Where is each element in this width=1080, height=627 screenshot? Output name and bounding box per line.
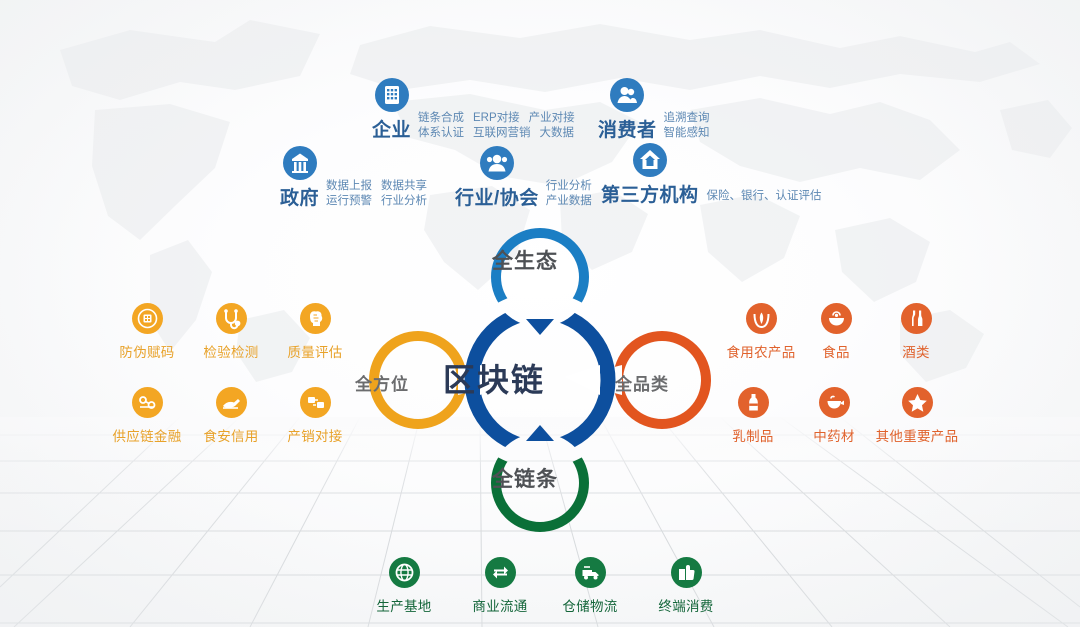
ring-label-ecosystem: 全生态 [492, 245, 558, 275]
tag: 链条合成 [418, 111, 464, 126]
tag: ERP对接 [473, 111, 520, 126]
food-safety-credit-icon [216, 387, 247, 418]
item-label: 其他重要产品 [865, 425, 969, 445]
item-label: 商业流通 [461, 595, 539, 615]
ring-label-chain: 全链条 [492, 463, 558, 493]
item-liquor[interactable]: 酒类 [877, 303, 955, 361]
circulation-arrows-icon [485, 557, 516, 588]
stakeholder-third-party[interactable]: 第三方机构 保险、银行、认证评估 [601, 143, 822, 207]
item-label: 防伪赋码 [108, 341, 186, 361]
terminal-consumption-icon [671, 557, 702, 588]
stakeholder-name: 第三方机构 [601, 180, 699, 207]
star-icon [902, 387, 933, 418]
stakeholder-name: 企业 [372, 115, 411, 142]
globe-production-icon [389, 557, 420, 588]
tag: 体系认证 [418, 126, 464, 141]
tag: 追溯查询 [664, 111, 710, 126]
third-party-icon [633, 143, 667, 177]
item-label: 乳制品 [714, 425, 792, 445]
item-label: 产销对接 [263, 425, 367, 445]
item-label: 终端消费 [647, 595, 725, 615]
item-production-base[interactable]: 生产基地 [365, 557, 443, 615]
item-production-sales-link[interactable]: 产销对接 [263, 387, 367, 445]
herbal-medicine-icon [819, 387, 850, 418]
item-commercial-circulation[interactable]: 商业流通 [461, 557, 539, 615]
item-terminal-consumption[interactable]: 终端消费 [647, 557, 725, 615]
item-herbal-medicine[interactable]: 中药材 [795, 387, 873, 445]
tag: 数据共享 [381, 179, 427, 194]
tag: 智能感知 [664, 126, 710, 141]
item-label: 检验检测 [192, 341, 270, 361]
tag: 运行预警 [326, 194, 372, 209]
item-inspection-testing[interactable]: 检验检测 [192, 303, 270, 361]
item-label: 酒类 [877, 341, 955, 361]
core-diagram: 全生态 全链条 全方位 全品类 区块链 [340, 215, 740, 545]
item-warehouse-logistics[interactable]: 仓储物流 [551, 557, 629, 615]
supply-chain-finance-icon [132, 387, 163, 418]
item-label: 中药材 [795, 425, 873, 445]
stakeholder-name: 消费者 [598, 115, 657, 142]
item-quality-assessment[interactable]: 质量评估 [276, 303, 354, 361]
item-label: 仓储物流 [551, 595, 629, 615]
stakeholder-government[interactable]: 政府 数据上报 数据共享 运行预警 行业分析 [280, 146, 427, 210]
consumer-icon [610, 78, 644, 112]
item-label: 食品 [797, 341, 875, 361]
association-icon [480, 146, 514, 180]
stakeholder-enterprise[interactable]: 企业 链条合成 ERP对接 产业对接 体系认证 互联网营销 大数据 [372, 78, 575, 142]
anti-counterfeit-code-icon [132, 303, 163, 334]
item-label: 生产基地 [365, 595, 443, 615]
tag: 行业分析 [381, 194, 427, 209]
warehouse-truck-icon [575, 557, 606, 588]
stakeholder-name: 行业/协会 [455, 183, 539, 210]
stakeholder-name: 政府 [280, 183, 319, 210]
tag: 行业分析 [546, 179, 592, 194]
item-other-important-products[interactable]: 其他重要产品 [865, 387, 969, 445]
tag: 保险、银行、认证评估 [707, 187, 822, 203]
food-bowl-icon [821, 303, 852, 334]
building-icon [375, 78, 409, 112]
ring-label-allcat: 全品类 [615, 370, 669, 395]
quality-brain-icon [300, 303, 331, 334]
core-center-label: 区块链 [443, 355, 545, 401]
liquor-bottle-icon [901, 303, 932, 334]
agricultural-product-icon [746, 303, 777, 334]
production-sales-link-icon [300, 387, 331, 418]
item-anti-counterfeit-code[interactable]: 防伪赋码 [108, 303, 186, 361]
tag: 数据上报 [326, 179, 372, 194]
tag: 大数据 [540, 126, 575, 141]
item-food[interactable]: 食品 [797, 303, 875, 361]
tag: 产业数据 [546, 194, 592, 209]
stethoscope-icon [216, 303, 247, 334]
stakeholder-association[interactable]: 行业/协会 行业分析 产业数据 [455, 146, 592, 210]
item-dairy[interactable]: 乳制品 [714, 387, 792, 445]
item-label: 质量评估 [276, 341, 354, 361]
tag: 产业对接 [529, 111, 575, 126]
government-icon [283, 146, 317, 180]
dairy-bottle-icon [738, 387, 769, 418]
tag: 互联网营销 [473, 126, 531, 141]
stakeholder-consumer[interactable]: 消费者 追溯查询 智能感知 [598, 78, 710, 142]
